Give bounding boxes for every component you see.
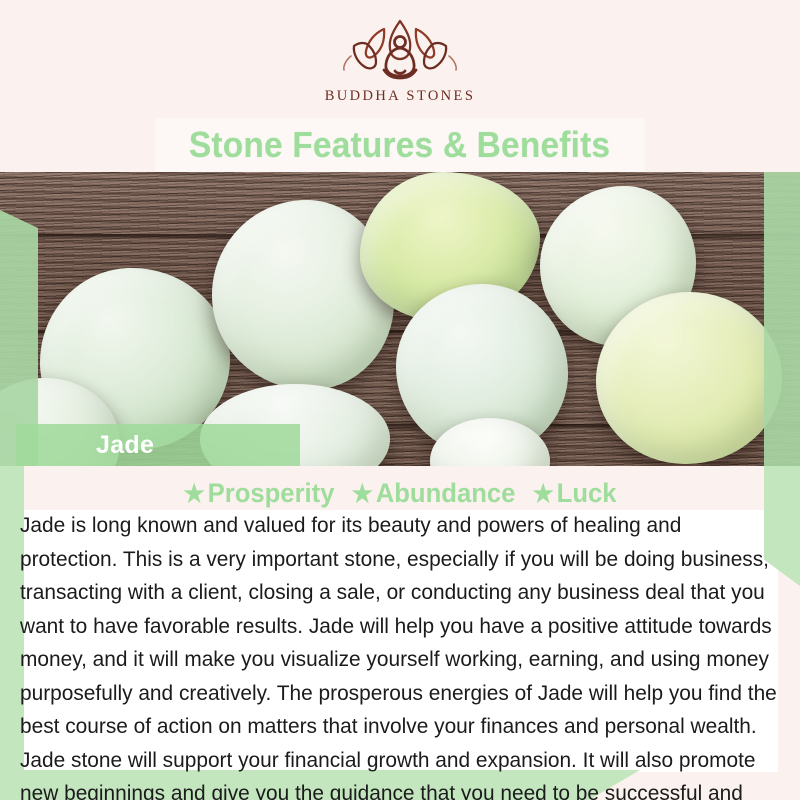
stone-name-band: Jade	[16, 424, 300, 466]
benefit-item-luck: ★Luck	[533, 478, 617, 508]
jade-stones-photo	[0, 172, 800, 466]
benefit-label: Abundance	[376, 478, 516, 508]
brand-name: BUDDHA STONES	[325, 88, 476, 105]
benefit-label: Luck	[557, 478, 617, 508]
star-icon: ★	[183, 480, 204, 508]
benefits-list: ★Prosperity★Abundance★Luck	[20, 478, 780, 509]
benefit-label: Prosperity	[208, 478, 335, 508]
star-icon: ★	[352, 480, 373, 508]
jade-stone	[596, 292, 782, 464]
lotus-meditation-icon	[336, 18, 464, 82]
stone-benefits-infographic: BUDDHA STONES Stone Features & Benefits …	[0, 0, 800, 800]
star-icon: ★	[533, 480, 554, 508]
benefit-item-prosperity: ★Prosperity	[183, 478, 334, 508]
stone-name-label: Jade	[16, 431, 154, 460]
description-text: Jade is long known and valued for its be…	[20, 509, 780, 800]
benefit-item-abundance: ★Abundance	[352, 478, 516, 508]
title-banner: Stone Features & Benefits	[155, 118, 645, 172]
page-title: Stone Features & Benefits	[189, 124, 610, 166]
decorative-green-bar-right	[764, 150, 800, 472]
